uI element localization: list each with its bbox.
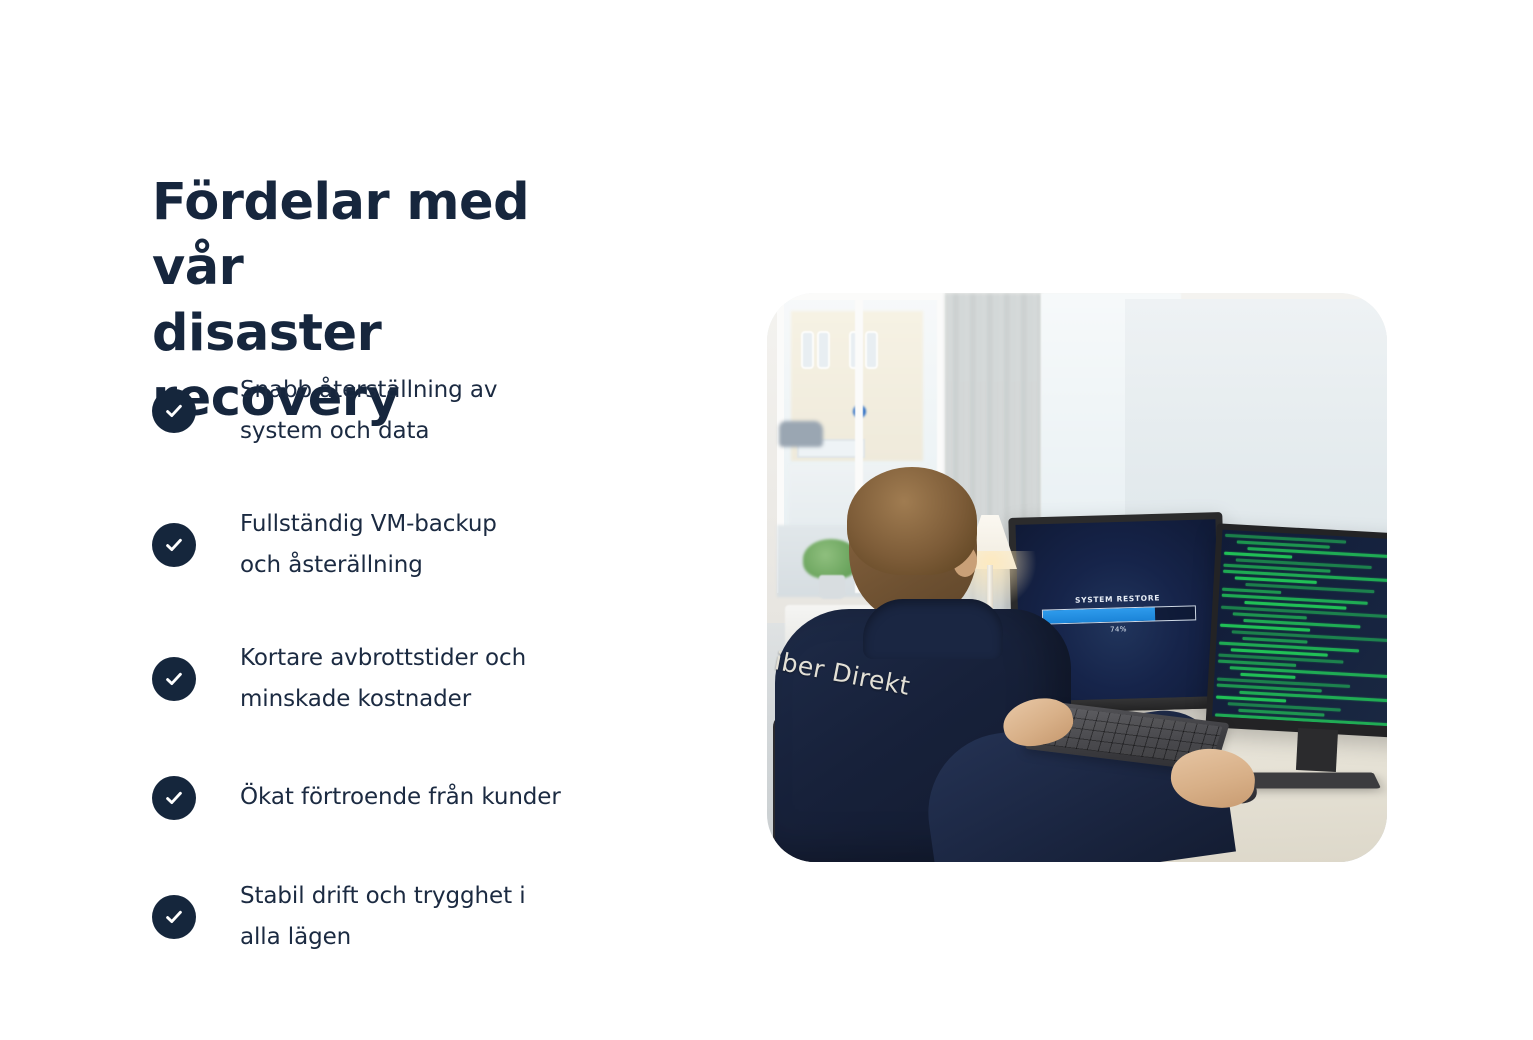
jacket-collar <box>863 599 1003 659</box>
facade-window <box>803 333 812 367</box>
content-column: Fördelar med vår disaster recovery Snabb… <box>152 170 632 431</box>
terminal-log-line <box>1224 552 1292 559</box>
progress-bar-fill <box>1043 607 1156 623</box>
progress-bar-track <box>1042 605 1196 624</box>
system-restore-dialog: SYSTEM RESTORE 74% <box>1042 592 1195 635</box>
list-item: Snabb återställning av system och data <box>152 370 622 452</box>
photo-scene: SYSTEM RESTORE 74% <box>767 293 1387 862</box>
terminal-log-line <box>1216 696 1286 703</box>
terminal-log-line <box>1226 720 1287 726</box>
check-circle-icon <box>152 657 196 701</box>
right-monitor <box>1205 523 1387 738</box>
monitor-stand-neck <box>1296 728 1338 772</box>
check-circle-icon <box>152 523 196 567</box>
list-item-label: Snabb återställning av system och data <box>240 370 497 452</box>
list-item-label: Fullständig VM-backup och åsterällning <box>240 504 497 586</box>
terminal-log-line <box>1238 727 1374 728</box>
check-circle-icon <box>152 389 196 433</box>
terminal-log-line <box>1229 666 1387 678</box>
parked-car <box>779 421 823 447</box>
terminal-log-line <box>1222 588 1281 594</box>
system-restore-title: SYSTEM RESTORE <box>1042 592 1194 605</box>
terminal-log-line <box>1241 673 1296 679</box>
monitor-stand-base <box>1239 772 1381 788</box>
list-item: Stabil drift och trygghet i alla lägen <box>152 876 622 958</box>
facade-window <box>867 333 876 367</box>
list-item-label: Kortare avbrottstider och minskade kostn… <box>240 638 526 720</box>
facade-window <box>819 333 828 367</box>
list-item: Kortare avbrottstider och minskade kostn… <box>152 638 622 720</box>
plant-pot <box>819 575 845 599</box>
check-circle-icon <box>152 895 196 939</box>
list-item-label: Stabil drift och trygghet i alla lägen <box>240 876 526 958</box>
progress-percent-label: 74% <box>1042 623 1194 635</box>
terminal-log-line <box>1215 714 1387 727</box>
list-item: Fullständig VM-backup och åsterällning <box>152 504 622 586</box>
office-photo: SYSTEM RESTORE 74% <box>767 293 1387 862</box>
benefits-list: Snabb återställning av system och data F… <box>152 370 622 958</box>
list-item-label: Ökat förtroende från kunder <box>240 777 561 818</box>
person-hair <box>847 467 977 575</box>
check-circle-icon <box>152 776 196 820</box>
list-item: Ökat förtroende från kunder <box>152 772 622 824</box>
right-monitor-screen <box>1212 530 1387 728</box>
